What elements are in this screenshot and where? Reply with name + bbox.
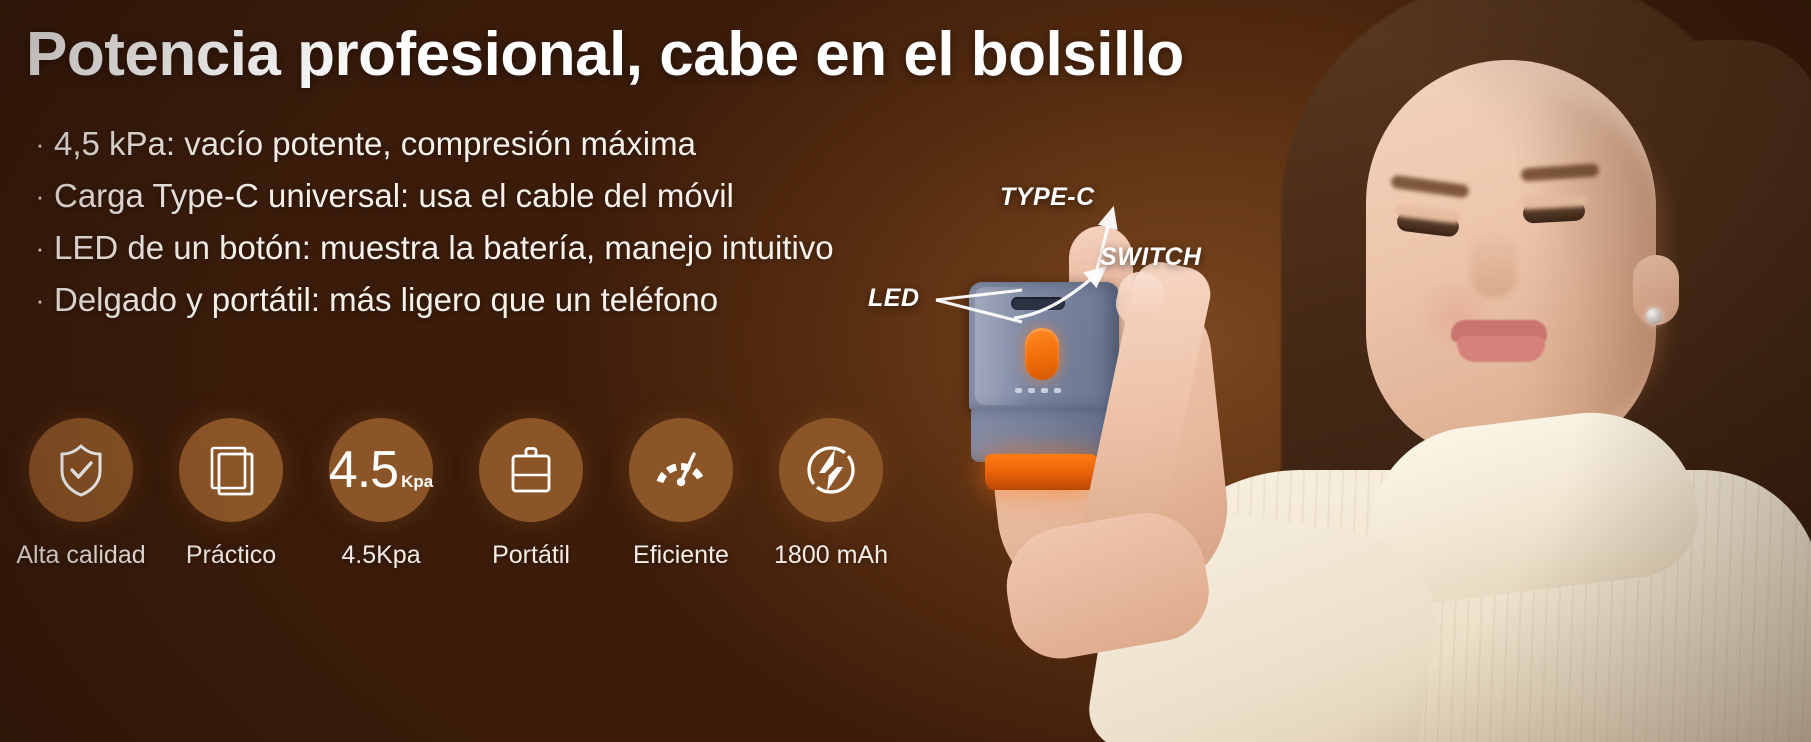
background-vignette (0, 0, 1811, 742)
product-banner: TYPE-C SWITCH LED Potencia profesional, … (0, 0, 1811, 742)
